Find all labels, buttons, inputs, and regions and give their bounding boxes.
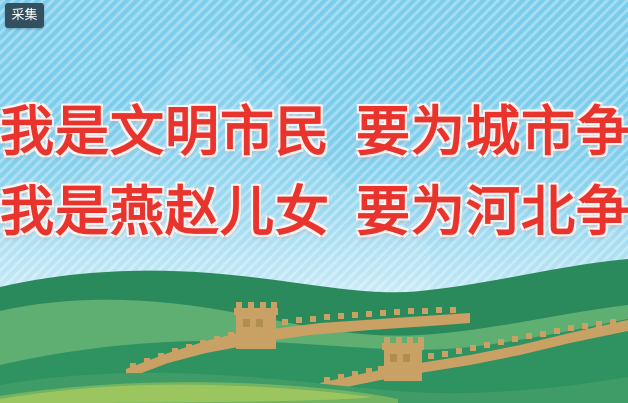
great-wall-right-watchtower	[382, 337, 424, 381]
great-wall-left-watchtower	[234, 302, 278, 349]
slogan-poster-image: 我是文明市民要为城市争光 我是燕赵儿女要为河北争气 采集	[0, 0, 628, 403]
landscape-illustration	[0, 253, 628, 403]
capture-button[interactable]: 采集	[5, 3, 44, 28]
